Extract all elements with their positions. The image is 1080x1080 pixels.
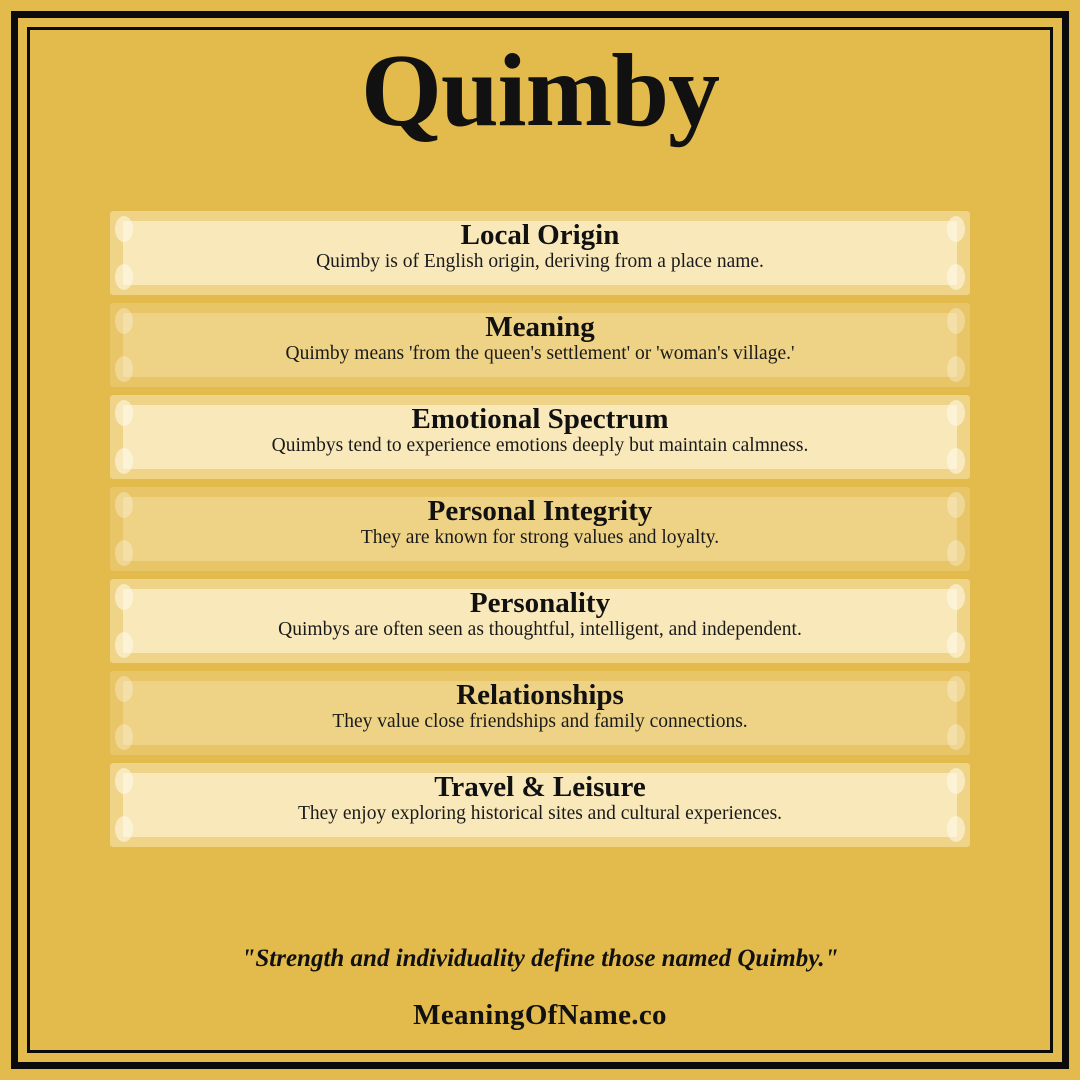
- card-text: Personal Integrity They are known for st…: [110, 497, 970, 548]
- brand-name: MeaningOfName.co: [30, 999, 1050, 1032]
- poster-footer: "Strength and individuality define those…: [30, 945, 1050, 1032]
- card-heading: Meaning: [110, 313, 970, 342]
- card-heading: Travel & Leisure: [110, 773, 970, 802]
- card-heading: Relationships: [110, 681, 970, 710]
- card-body: They are known for strong values and loy…: [110, 528, 970, 548]
- attribute-card: Personal Integrity They are known for st…: [110, 487, 970, 571]
- card-text: Personality Quimbys are often seen as th…: [110, 589, 970, 640]
- attribute-card: Relationships They value close friendshi…: [110, 671, 970, 755]
- card-body: They enjoy exploring historical sites an…: [110, 804, 970, 824]
- card-text: Meaning Quimby means 'from the queen's s…: [110, 313, 970, 364]
- attribute-card: Travel & Leisure They enjoy exploring hi…: [110, 763, 970, 847]
- card-body: They value close friendships and family …: [110, 712, 970, 732]
- name-poster: Quimby Local Origin Quimby is of English…: [0, 0, 1080, 1080]
- card-text: Local Origin Quimby is of English origin…: [110, 221, 970, 272]
- card-body: Quimby means 'from the queen's settlemen…: [110, 344, 970, 364]
- poster-content: Quimby Local Origin Quimby is of English…: [30, 30, 1050, 1050]
- attribute-card: Personality Quimbys are often seen as th…: [110, 579, 970, 663]
- card-text: Relationships They value close friendshi…: [110, 681, 970, 732]
- card-heading: Personality: [110, 589, 970, 618]
- card-body: Quimbys are often seen as thoughtful, in…: [110, 620, 970, 640]
- attribute-card: Meaning Quimby means 'from the queen's s…: [110, 303, 970, 387]
- tagline: "Strength and individuality define those…: [30, 945, 1050, 973]
- card-text: Travel & Leisure They enjoy exploring hi…: [110, 773, 970, 824]
- attribute-card: Emotional Spectrum Quimbys tend to exper…: [110, 395, 970, 479]
- page-title: Quimby: [30, 36, 1050, 145]
- card-body: Quimby is of English origin, deriving fr…: [110, 252, 970, 272]
- card-body: Quimbys tend to experience emotions deep…: [110, 436, 970, 456]
- card-heading: Personal Integrity: [110, 497, 970, 526]
- attribute-card-list: Local Origin Quimby is of English origin…: [110, 211, 970, 855]
- card-heading: Local Origin: [110, 221, 970, 250]
- card-heading: Emotional Spectrum: [110, 405, 970, 434]
- card-text: Emotional Spectrum Quimbys tend to exper…: [110, 405, 970, 456]
- attribute-card: Local Origin Quimby is of English origin…: [110, 211, 970, 295]
